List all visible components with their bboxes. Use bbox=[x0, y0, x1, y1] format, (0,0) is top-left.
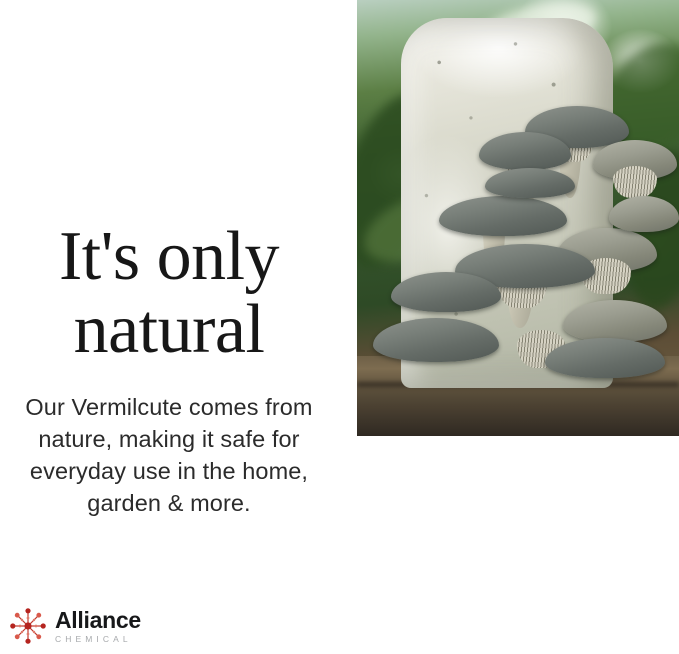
photo-background-foliage bbox=[357, 0, 679, 436]
mushroom-cap bbox=[485, 168, 575, 198]
brand-logo[interactable]: Alliance CHEMICAL bbox=[8, 606, 141, 646]
mushroom-cap bbox=[545, 338, 665, 378]
body-copy-line-1: Our Vermilcute comes from bbox=[0, 391, 338, 423]
body-copy-line-2: nature, making it safe for bbox=[0, 423, 338, 455]
logo-brand-subtitle: CHEMICAL bbox=[55, 635, 141, 644]
mushroom-cap bbox=[609, 196, 679, 232]
headline-line-2: natural bbox=[0, 295, 338, 364]
marketing-copy-block: It's only natural Our Vermilcute comes f… bbox=[0, 222, 338, 519]
molecule-icon bbox=[8, 606, 48, 646]
page-title: It's only natural bbox=[0, 222, 338, 365]
logo-wordmark: Alliance CHEMICAL bbox=[55, 609, 141, 644]
body-copy-line-3: everyday use in the home, bbox=[0, 455, 338, 487]
mushroom-gills bbox=[613, 166, 657, 198]
headline-line-1: It's only bbox=[0, 222, 338, 291]
product-ad-card: It's only natural Our Vermilcute comes f… bbox=[0, 0, 679, 654]
body-copy-line-4: garden & more. bbox=[0, 487, 338, 519]
body-copy: Our Vermilcute comes from nature, making… bbox=[0, 365, 338, 520]
logo-brand-name: Alliance bbox=[55, 609, 141, 632]
product-photo bbox=[357, 0, 679, 436]
